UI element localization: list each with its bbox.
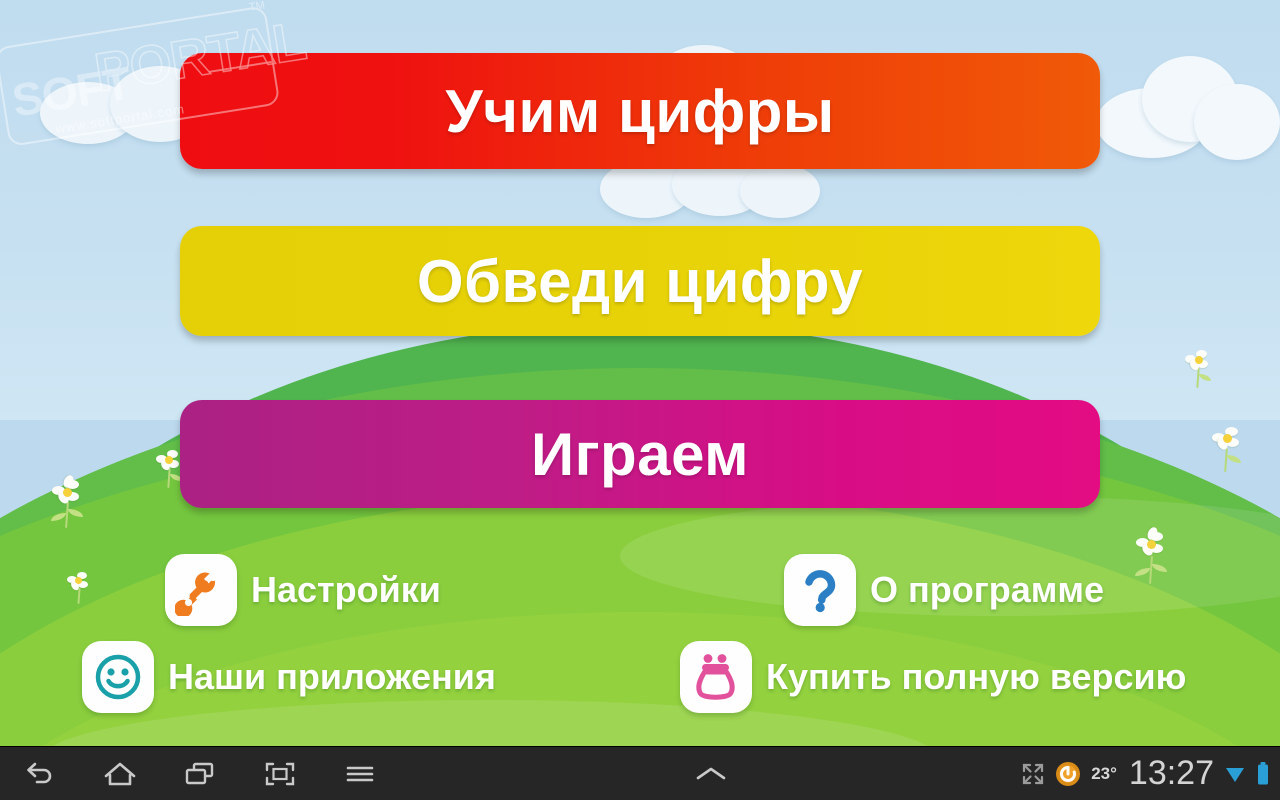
flower [44, 478, 90, 530]
question-icon [784, 554, 856, 626]
wrench-icon [165, 554, 237, 626]
learn-numbers-label: Учим цифры [445, 77, 834, 146]
flower [1180, 348, 1216, 392]
wifi-signal-icon[interactable] [1224, 763, 1246, 785]
purse-icon [680, 641, 752, 713]
cloud-right [1090, 48, 1280, 170]
menu-item-settings[interactable]: Настройки [165, 554, 441, 626]
screenshot-icon[interactable] [240, 747, 320, 800]
flower [1128, 530, 1174, 586]
menu-item-buy-full-version-label: Купить полную версию [766, 656, 1186, 698]
recent-apps-icon[interactable] [160, 747, 240, 800]
back-arrow-icon[interactable] [0, 747, 80, 800]
menu-item-our-apps[interactable]: Наши приложения [82, 641, 496, 713]
fullscreen-expand-icon[interactable] [1021, 762, 1045, 786]
menu-item-settings-label: Настройки [251, 569, 441, 611]
menu-item-about-label: О программе [870, 569, 1104, 611]
temperature-indicator: 23° [1091, 764, 1117, 784]
play-button[interactable]: Играем [180, 400, 1100, 508]
weather-app-icon[interactable] [1055, 761, 1081, 787]
menu-item-buy-full-version[interactable]: Купить полную версию [680, 641, 1186, 713]
play-label: Играем [531, 420, 749, 489]
app-screen: Учим цифры Обведи цифру Играем Настройки [0, 0, 1280, 800]
android-system-bar: 23° 13:27 [0, 746, 1280, 800]
status-clock: 13:27 [1129, 754, 1214, 793]
learn-numbers-button[interactable]: Учим цифры [180, 53, 1100, 169]
trace-number-button[interactable]: Обведи цифру [180, 226, 1100, 336]
battery-full-icon[interactable] [1256, 761, 1270, 787]
menu-item-about[interactable]: О программе [784, 554, 1104, 626]
menu-item-our-apps-label: Наши приложения [168, 656, 496, 698]
trace-number-label: Обведи цифру [417, 247, 863, 316]
flower [62, 570, 96, 610]
home-icon[interactable] [80, 747, 160, 800]
status-icons-group: 23° 13:27 [1021, 747, 1280, 800]
hamburger-menu-icon[interactable] [320, 747, 400, 800]
chevron-up-icon[interactable] [676, 764, 746, 784]
flower [1206, 425, 1246, 475]
smiley-icon [82, 641, 154, 713]
